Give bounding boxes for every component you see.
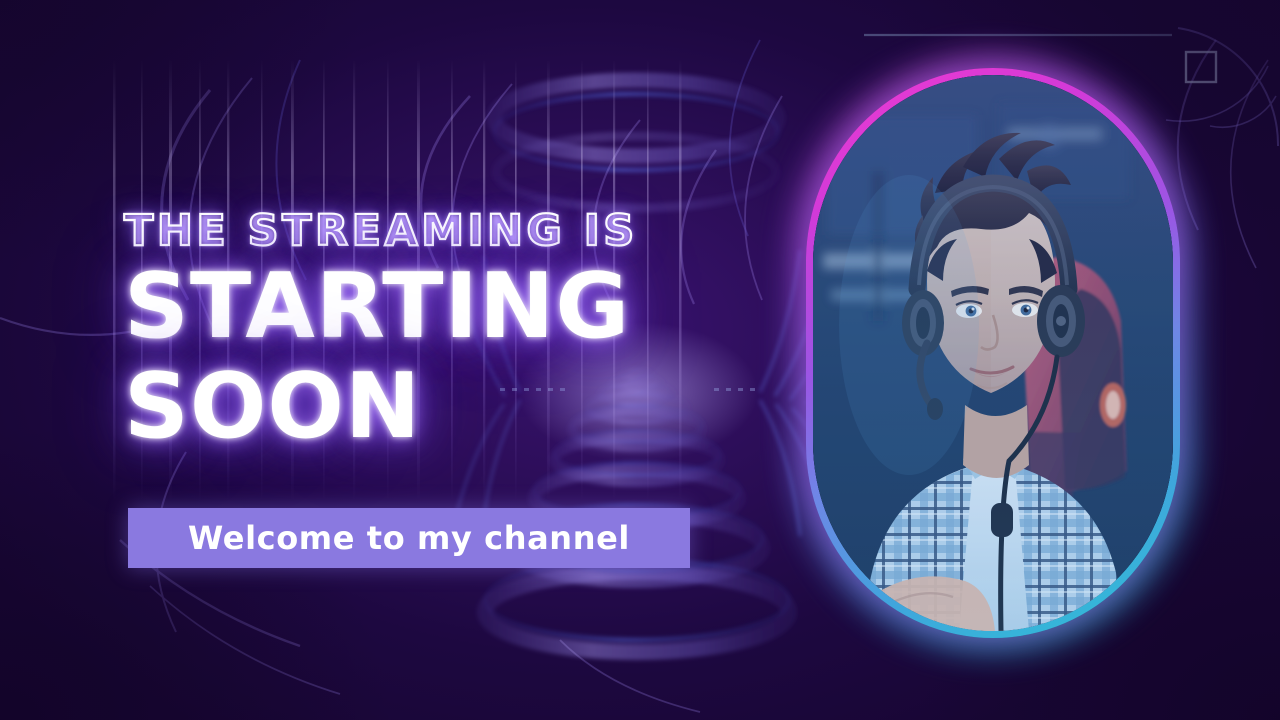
headline: STARTING SOON xyxy=(124,263,724,451)
welcome-ribbon: Welcome to my channel xyxy=(128,508,690,568)
stream-overlay-canvas: THE STREAMING IS STARTING SOON Welcome t… xyxy=(0,0,1280,720)
streamer-portrait xyxy=(806,68,1180,638)
welcome-ribbon-text: Welcome to my channel xyxy=(188,519,630,557)
headline-line-2: SOON xyxy=(124,363,724,451)
portrait-photo-mask xyxy=(813,75,1173,631)
streamer-photo xyxy=(813,75,1173,631)
title-block: THE STREAMING IS STARTING SOON Welcome t… xyxy=(124,210,724,451)
eyebrow-text: THE STREAMING IS xyxy=(124,210,724,253)
headline-line-1: STARTING xyxy=(124,254,630,359)
portrait-gradient-frame xyxy=(806,68,1180,638)
